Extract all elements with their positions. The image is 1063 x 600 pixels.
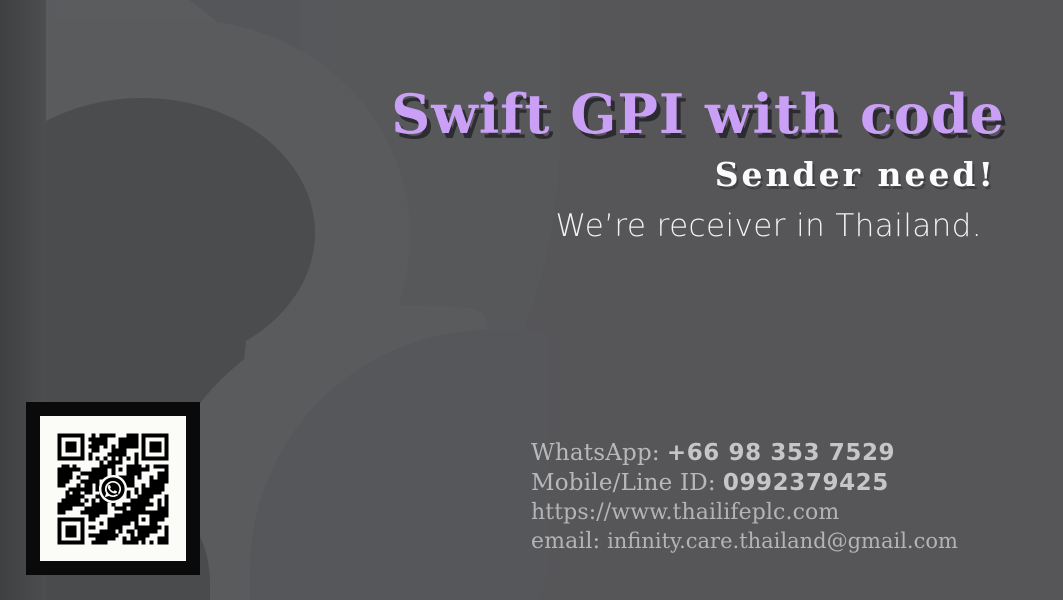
contact-row-email: email: infinity.care.thailand@gmail.com	[531, 529, 958, 554]
email-label: email:	[531, 529, 600, 554]
whatsapp-number[interactable]: +66 98 353 7529	[667, 440, 895, 466]
mobile-line-id-label: Mobile/Line ID:	[531, 470, 716, 496]
contact-row-mobile: Mobile/Line ID: 0992379425	[531, 470, 958, 496]
website-link[interactable]: https://www.thailifeplc.com	[531, 500, 839, 525]
contact-row-whatsapp: WhatsApp: +66 98 353 7529	[531, 440, 958, 466]
qr-code-quiet-zone	[40, 416, 186, 561]
contact-block: WhatsApp: +66 98 353 7529 Mobile/Line ID…	[531, 440, 958, 558]
contact-row-website: https://www.thailifeplc.com	[531, 500, 958, 525]
mobile-line-id-number[interactable]: 0992379425	[723, 470, 889, 496]
whatsapp-icon	[98, 474, 128, 504]
business-card-banner: Swift GPI with code Sender need! We’re r…	[0, 0, 1063, 600]
subtitle-sender-need: Sender need!	[0, 155, 996, 194]
page-title: Swift GPI with code	[0, 82, 1005, 146]
whatsapp-label: WhatsApp:	[531, 440, 660, 466]
email-address[interactable]: infinity.care.thailand@gmail.com	[607, 529, 958, 553]
qr-code-frame[interactable]	[26, 402, 200, 575]
tagline-receiver: We’re receiver in Thailand.	[0, 208, 982, 244]
